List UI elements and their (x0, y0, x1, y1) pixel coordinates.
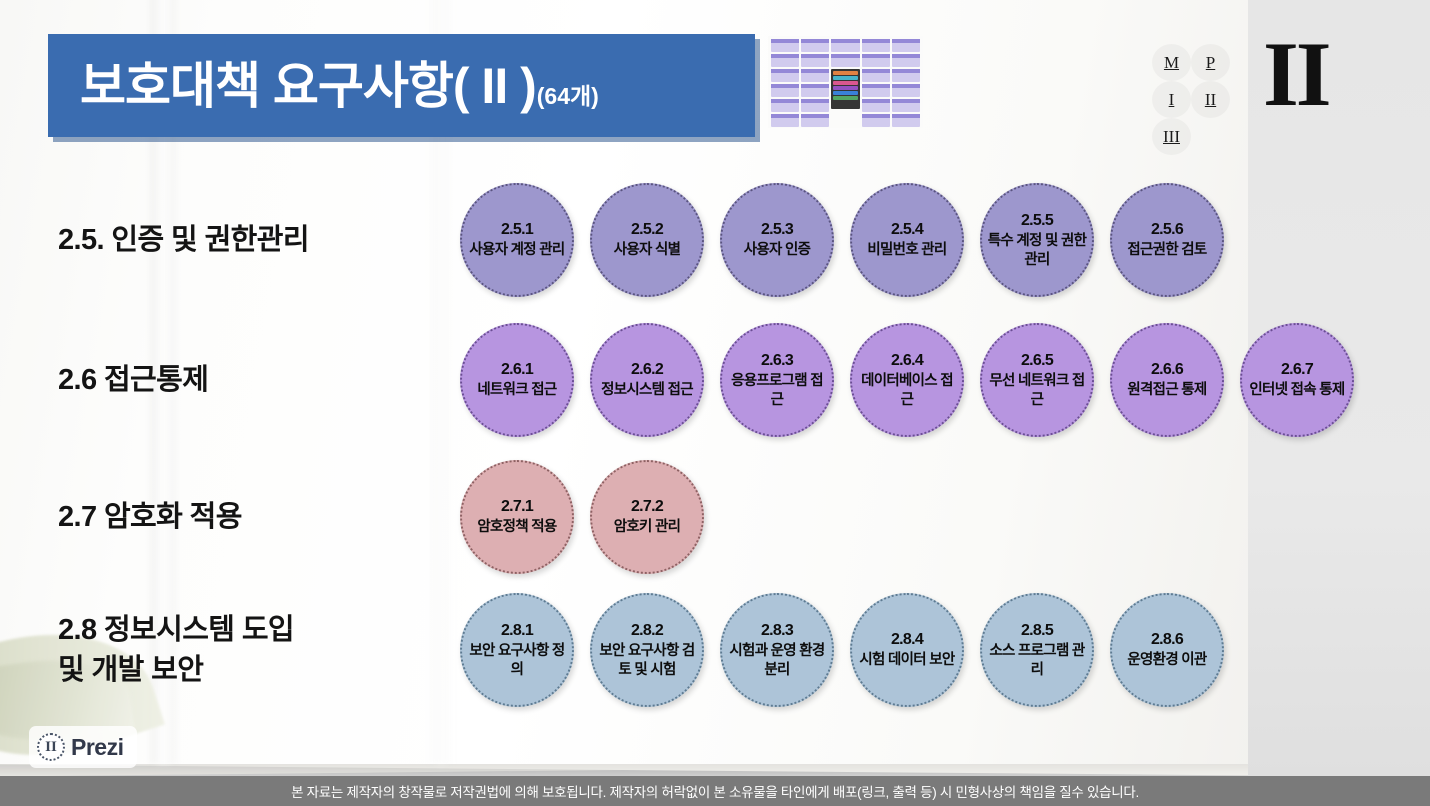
bubble-2-6-1[interactable]: 2.6.1 네트워크 접근 (460, 323, 574, 437)
bubble-2-5-6[interactable]: 2.5.6 접근권한 검토 (1110, 183, 1224, 297)
bubble-text: 사용자 식별 (609, 241, 686, 259)
bubble-2-8-5[interactable]: 2.8.5 소스 프로그램 관리 (980, 593, 1094, 707)
bubble-number: 2.8.6 (1151, 630, 1183, 650)
page-title: 보호대책 요구사항( II ) (80, 61, 536, 111)
bubble-number: 2.5.1 (501, 220, 533, 240)
bubble-text: 시험 데이터 보안 (854, 651, 959, 669)
section-row-25: 2.5. 인증 및 권한관리 2.5.1 사용자 계정 관리 2.5.2 사용자… (0, 175, 1430, 305)
section-label-25: 2.5. 인증 및 권한관리 (58, 220, 309, 260)
slide-canvas: 보호대책 요구사항( II ) (64개) (0, 0, 1430, 806)
nav-item-m[interactable]: M (1152, 44, 1191, 81)
overview-thumbnail-image (768, 36, 923, 128)
bubble-text: 암호정책 적용 (472, 518, 561, 536)
bubble-text: 무선 네트워크 접근 (982, 372, 1092, 409)
bubble-2-6-3[interactable]: 2.6.3 응용프로그램 접근 (720, 323, 834, 437)
bubble-number: 2.7.1 (501, 497, 533, 517)
bubble-2-5-2[interactable]: 2.5.2 사용자 식별 (590, 183, 704, 297)
bubble-number: 2.5.3 (761, 220, 793, 240)
bubble-number: 2.6.3 (761, 351, 793, 371)
copyright-text: 본 자료는 제작자의 창작물로 저작권법에 의해 보호됩니다. 제작자의 허락없… (291, 781, 1139, 801)
bubble-2-8-2[interactable]: 2.8.2 보안 요구사항 검토 및 시험 (590, 593, 704, 707)
bubble-text: 시험과 운영 환경 분리 (722, 642, 832, 679)
bubble-text: 데이터베이스 접근 (852, 372, 962, 409)
bubble-text: 인터넷 접속 통제 (1244, 381, 1349, 399)
bubble-number: 2.6.2 (631, 360, 663, 380)
bubble-number: 2.7.2 (631, 497, 663, 517)
bubble-2-6-6[interactable]: 2.6.6 원격접근 통제 (1110, 323, 1224, 437)
prezi-logo[interactable]: II Prezi (29, 726, 137, 768)
nav-item-p[interactable]: P (1191, 44, 1230, 81)
bubble-2-5-1[interactable]: 2.5.1 사용자 계정 관리 (460, 183, 574, 297)
bubble-number: 2.8.1 (501, 621, 533, 641)
copyright-bar: 본 자료는 제작자의 창작물로 저작권법에 의해 보호됩니다. 제작자의 허락없… (0, 776, 1430, 806)
bubble-group-28: 2.8.1 보안 요구사항 정의 2.8.2 보안 요구사항 검토 및 시험 2… (460, 593, 1224, 707)
bubble-text: 사용자 계정 관리 (464, 241, 569, 259)
bubble-number: 2.6.6 (1151, 360, 1183, 380)
bubble-text: 네트워크 접근 (472, 381, 561, 399)
bubble-number: 2.6.5 (1021, 351, 1053, 371)
section-row-28: 2.8 정보시스템 도입 및 개발 보안 2.8.1 보안 요구사항 정의 2.… (0, 585, 1430, 715)
bubble-number: 2.6.7 (1281, 360, 1313, 380)
bubble-text: 운영환경 이관 (1122, 651, 1211, 669)
bubble-group-26: 2.6.1 네트워크 접근 2.6.2 정보시스템 접근 2.6.3 응용프로그… (460, 323, 1354, 437)
bubble-number: 2.5.2 (631, 220, 663, 240)
prezi-badge-icon: II (37, 733, 65, 761)
bubble-2-8-1[interactable]: 2.8.1 보안 요구사항 정의 (460, 593, 574, 707)
bubble-number: 2.6.4 (891, 351, 923, 371)
bubble-number: 2.8.3 (761, 621, 793, 641)
bubble-2-8-6[interactable]: 2.8.6 운영환경 이관 (1110, 593, 1224, 707)
bubble-text: 응용프로그램 접근 (722, 372, 832, 409)
bubble-2-6-2[interactable]: 2.6.2 정보시스템 접근 (590, 323, 704, 437)
chapter-marker: II (1263, 28, 1329, 120)
section-row-26: 2.6 접근통제 2.6.1 네트워크 접근 2.6.2 정보시스템 접근 2.… (0, 315, 1430, 445)
bubble-text: 보안 요구사항 검토 및 시험 (592, 642, 702, 679)
nav-item-iii[interactable]: III (1152, 118, 1191, 155)
bubble-2-5-4[interactable]: 2.5.4 비밀번호 관리 (850, 183, 964, 297)
bubble-2-8-3[interactable]: 2.8.3 시험과 운영 환경 분리 (720, 593, 834, 707)
bubble-number: 2.5.5 (1021, 211, 1053, 231)
bubble-group-27: 2.7.1 암호정책 적용 2.7.2 암호키 관리 (460, 460, 704, 574)
bubble-text: 비밀번호 관리 (862, 241, 951, 259)
bubble-2-7-2[interactable]: 2.7.2 암호키 관리 (590, 460, 704, 574)
bubble-2-6-5[interactable]: 2.6.5 무선 네트워크 접근 (980, 323, 1094, 437)
bubble-group-25: 2.5.1 사용자 계정 관리 2.5.2 사용자 식별 2.5.3 사용자 인… (460, 183, 1224, 297)
section-label-26: 2.6 접근통제 (58, 360, 208, 400)
bubble-text: 소스 프로그램 관리 (982, 642, 1092, 679)
bubble-2-6-4[interactable]: 2.6.4 데이터베이스 접근 (850, 323, 964, 437)
section-row-27: 2.7 암호화 적용 2.7.1 암호정책 적용 2.7.2 암호키 관리 (0, 452, 1430, 582)
bubble-2-8-4[interactable]: 2.8.4 시험 데이터 보안 (850, 593, 964, 707)
bubble-text: 특수 계정 및 권한 관리 (982, 232, 1092, 269)
prezi-wordmark: Prezi (71, 734, 123, 761)
title-item-count: (64개) (537, 77, 599, 137)
bubble-number: 2.8.2 (631, 621, 663, 641)
bubble-text: 보안 요구사항 정의 (462, 642, 572, 679)
bubble-2-6-7[interactable]: 2.6.7 인터넷 접속 통제 (1240, 323, 1354, 437)
bubble-text: 접근권한 검토 (1122, 241, 1211, 259)
bubble-text: 암호키 관리 (609, 518, 686, 536)
section-label-28: 2.8 정보시스템 도입 및 개발 보안 (58, 610, 294, 690)
slide-title-bar: 보호대책 요구사항( II ) (64개) (48, 34, 755, 137)
bubble-number: 2.6.1 (501, 360, 533, 380)
bubble-text: 정보시스템 접근 (596, 381, 698, 399)
section-label-27: 2.7 암호화 적용 (58, 497, 242, 537)
roman-navigation[interactable]: M P I II III (1152, 44, 1230, 155)
bubble-2-5-5[interactable]: 2.5.5 특수 계정 및 권한 관리 (980, 183, 1094, 297)
bubble-number: 2.8.5 (1021, 621, 1053, 641)
bubble-number: 2.8.4 (891, 630, 923, 650)
nav-item-ii[interactable]: II (1191, 81, 1230, 118)
bubble-number: 2.5.6 (1151, 220, 1183, 240)
bubble-2-5-3[interactable]: 2.5.3 사용자 인증 (720, 183, 834, 297)
bubble-text: 사용자 인증 (739, 241, 816, 259)
bubble-text: 원격접근 통제 (1122, 381, 1211, 399)
nav-item-i[interactable]: I (1152, 81, 1191, 118)
bubble-2-7-1[interactable]: 2.7.1 암호정책 적용 (460, 460, 574, 574)
bubble-number: 2.5.4 (891, 220, 923, 240)
